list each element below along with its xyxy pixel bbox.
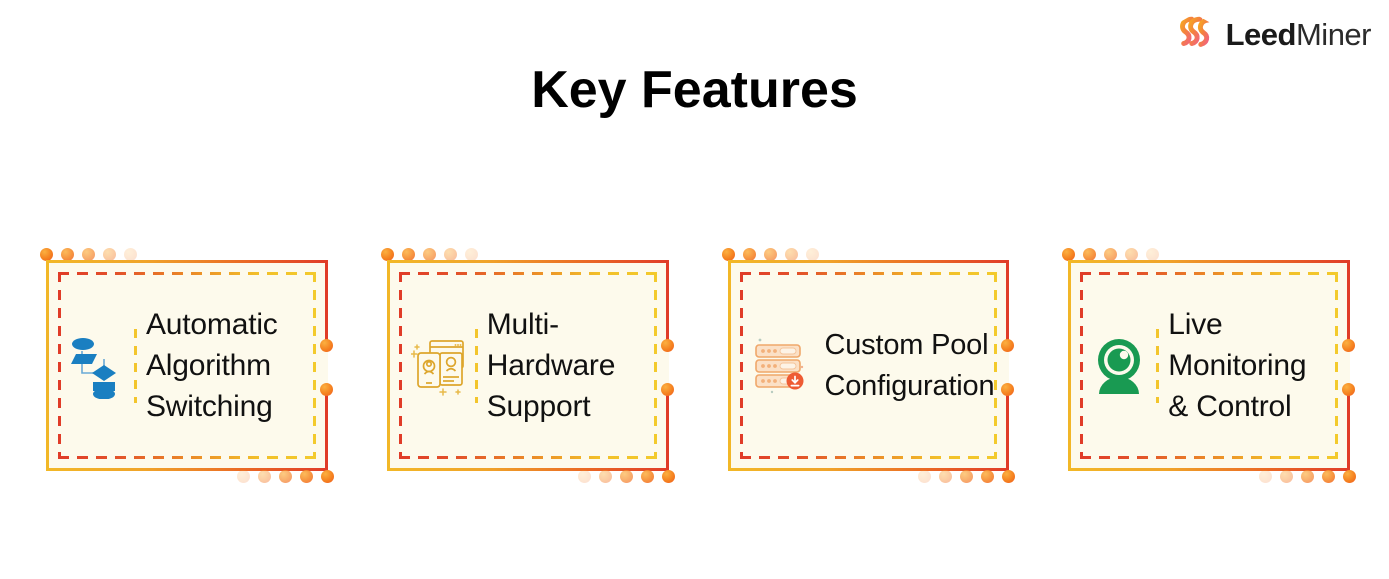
- responsive-devices-icon: [409, 329, 471, 403]
- dot: [237, 470, 250, 483]
- card-border-left: [728, 260, 731, 471]
- card-border-right-upper: [325, 260, 328, 344]
- card-border-left: [46, 260, 49, 471]
- edge-dot-upper: [661, 339, 674, 352]
- flowchart-icon: [68, 329, 130, 403]
- dot: [620, 470, 633, 483]
- server-stack-download-icon: [750, 329, 812, 403]
- dot: [258, 470, 271, 483]
- leedminer-hex-logo-icon: [1172, 12, 1217, 57]
- brand-wordmark: LeedMiner: [1226, 19, 1371, 50]
- card-border-top: [1068, 260, 1350, 263]
- dot: [1002, 470, 1015, 483]
- card-border-right-lower: [325, 388, 328, 471]
- decorative-dots-bottom: [918, 470, 1015, 483]
- dot: [662, 470, 675, 483]
- dot: [1301, 470, 1314, 483]
- dot: [279, 470, 292, 483]
- dot: [960, 470, 973, 483]
- brand-name-light: Miner: [1296, 17, 1371, 52]
- card-frame: Custom Pool Configuration: [728, 260, 1010, 471]
- dot: [1280, 470, 1293, 483]
- feature-card-custom-pool-configuration[interactable]: Custom Pool Configuration: [720, 248, 1018, 483]
- card-border-top: [387, 260, 669, 263]
- decorative-dots-bottom: [1259, 470, 1356, 483]
- dot: [1343, 470, 1356, 483]
- card-divider: [1156, 329, 1159, 403]
- card-content: Multi-Hardware Support: [399, 272, 657, 459]
- edge-dot-lower: [1342, 383, 1355, 396]
- card-border-top: [728, 260, 1010, 263]
- edge-dot-upper: [1001, 339, 1014, 352]
- edge-dot-upper: [320, 339, 333, 352]
- card-border-right-lower: [1006, 388, 1009, 471]
- dot: [1259, 470, 1272, 483]
- card-title: Automatic Algorithm Switching: [146, 304, 310, 427]
- card-title: Live Monitoring & Control: [1168, 304, 1332, 427]
- card-border-left: [1068, 260, 1071, 471]
- dot: [981, 470, 994, 483]
- card-border-right-lower: [666, 388, 669, 471]
- feature-card-multi-hardware-support[interactable]: Multi-Hardware Support: [379, 248, 677, 483]
- edge-dot-lower: [661, 383, 674, 396]
- card-border-right-upper: [1006, 260, 1009, 344]
- card-border-right-upper: [666, 260, 669, 344]
- card-divider: [134, 329, 137, 403]
- dot: [321, 470, 334, 483]
- dot: [1322, 470, 1335, 483]
- edge-dot-lower: [1001, 383, 1014, 396]
- card-frame: Live Monitoring & Control: [1068, 260, 1350, 471]
- card-title: Multi-Hardware Support: [487, 304, 651, 427]
- dot: [641, 470, 654, 483]
- card-border-left: [387, 260, 390, 471]
- dot: [599, 470, 612, 483]
- brand-name-bold: Leed: [1226, 17, 1296, 52]
- page-title: Key Features: [0, 62, 1389, 119]
- decorative-dots-bottom: [237, 470, 334, 483]
- dot: [918, 470, 931, 483]
- card-content: Automatic Algorithm Switching: [58, 272, 316, 459]
- card-title: Custom Pool Configuration: [825, 325, 995, 407]
- edge-dot-lower: [320, 383, 333, 396]
- card-border-right-upper: [1347, 260, 1350, 344]
- decorative-dots-bottom: [578, 470, 675, 483]
- card-divider: [475, 329, 478, 403]
- dot: [578, 470, 591, 483]
- feature-cards-row: Automatic Algorithm Switching: [38, 248, 1358, 483]
- card-content: Custom Pool Configuration: [740, 272, 998, 459]
- feature-card-live-monitoring-control[interactable]: Live Monitoring & Control: [1060, 248, 1358, 483]
- feature-card-automatic-algorithm-switching[interactable]: Automatic Algorithm Switching: [38, 248, 336, 483]
- dot: [939, 470, 952, 483]
- brand-logo: LeedMiner: [1172, 12, 1371, 57]
- card-border-top: [46, 260, 328, 263]
- card-content: Live Monitoring & Control: [1080, 272, 1338, 459]
- card-border-right-lower: [1347, 388, 1350, 471]
- dot: [300, 470, 313, 483]
- edge-dot-upper: [1342, 339, 1355, 352]
- card-frame: Multi-Hardware Support: [387, 260, 669, 471]
- webcam-icon: [1090, 329, 1152, 403]
- card-frame: Automatic Algorithm Switching: [46, 260, 328, 471]
